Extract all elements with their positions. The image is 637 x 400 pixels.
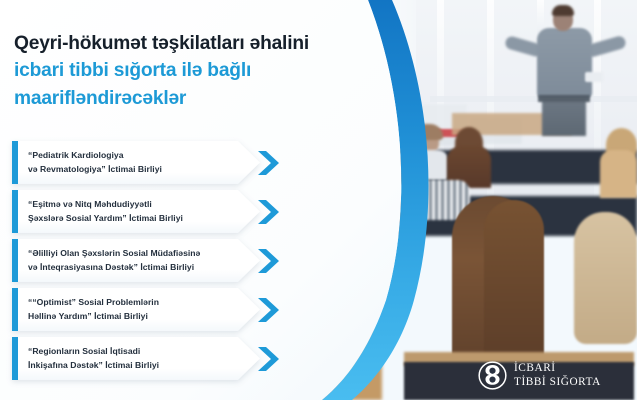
organization-name-line-1: “Eşitmə və Nitq Məhdudiyyətli bbox=[28, 198, 233, 211]
organization-name-line-1: ““Optimist” Sosial Problemlərin bbox=[28, 296, 233, 309]
card-accent-bar bbox=[12, 288, 18, 331]
organization-name-line-1: “Regionların Sosial İqtisadi bbox=[28, 345, 233, 358]
chevron-right-icon[interactable] bbox=[254, 344, 284, 374]
card-accent-bar bbox=[12, 337, 18, 380]
organization-list: “Pediatrik Kardiologiya və Revmatologiya… bbox=[0, 141, 300, 386]
list-item[interactable]: ““Optimist” Sosial Problemlərin Həllinə … bbox=[0, 288, 300, 331]
organization-name: ““Optimist” Sosial Problemlərin Həllinə … bbox=[28, 288, 233, 331]
list-item[interactable]: “Regionların Sosial İqtisadi İnkişafına … bbox=[0, 337, 300, 380]
list-item[interactable]: “Pediatrik Kardiologiya və Revmatologiya… bbox=[0, 141, 300, 184]
organization-card[interactable]: ““Optimist” Sosial Problemlərin Həllinə … bbox=[12, 288, 260, 331]
chevron-right-icon[interactable] bbox=[254, 246, 284, 276]
logo-text: İCBARİ TİBBİ SIĞORTA bbox=[514, 362, 601, 389]
page-title: Qeyri-hökumət təşkilatları əhalini icbar… bbox=[14, 30, 364, 112]
list-item[interactable]: “Əlilliyi Olan Şəxslərin Sosial Müdafiəs… bbox=[0, 239, 300, 282]
chevron-right-icon[interactable] bbox=[254, 148, 284, 178]
organization-card[interactable]: “Pediatrik Kardiologiya və Revmatologiya… bbox=[12, 141, 260, 184]
organization-card[interactable]: “Eşitmə və Nitq Məhdudiyyətli Şəxslərə S… bbox=[12, 190, 260, 233]
chevron-right-icon[interactable] bbox=[254, 295, 284, 325]
organization-name-line-2: Şəxslərə Sosial Yardım” İctimai Birliyi bbox=[28, 212, 233, 225]
organization-name-line-2: Həllinə Yardım” İctimai Birliyi bbox=[28, 310, 233, 323]
icbari-tibbi-sigorta-emblem-icon bbox=[478, 361, 507, 390]
card-accent-bar bbox=[12, 239, 18, 282]
headline-line-2: icbari tibbi sığorta ilə bağlı bbox=[14, 57, 364, 84]
headline-line-1: Qeyri-hökumət təşkilatları əhalini bbox=[14, 30, 364, 57]
chevron-right-icon[interactable] bbox=[254, 197, 284, 227]
organization-name: “Regionların Sosial İqtisadi İnkişafına … bbox=[28, 337, 233, 380]
list-item[interactable]: “Eşitmə və Nitq Məhdudiyyətli Şəxslərə S… bbox=[0, 190, 300, 233]
organization-name-line-1: “Pediatrik Kardiologiya bbox=[28, 149, 233, 162]
organization-card[interactable]: “Regionların Sosial İqtisadi İnkişafına … bbox=[12, 337, 260, 380]
organization-name-line-2: İnkişafına Dəstək” İctimai Birliyi bbox=[28, 359, 233, 372]
logo-text-line-2: TİBBİ SIĞORTA bbox=[514, 376, 601, 389]
card-accent-bar bbox=[12, 190, 18, 233]
card-accent-bar bbox=[12, 141, 18, 184]
headline-line-3: maarifləndirəcəklər bbox=[14, 85, 364, 112]
banner-image: Qeyri-hökumət təşkilatları əhalini icbar… bbox=[0, 0, 637, 400]
organization-name: “Əlilliyi Olan Şəxslərin Sosial Müdafiəs… bbox=[28, 239, 233, 282]
logo: İCBARİ TİBBİ SIĞORTA bbox=[478, 361, 601, 390]
organization-card[interactable]: “Əlilliyi Olan Şəxslərin Sosial Müdafiəs… bbox=[12, 239, 260, 282]
organization-name: “Eşitmə və Nitq Məhdudiyyətli Şəxslərə S… bbox=[28, 190, 233, 233]
organization-name-line-2: və İnteqrasiyasına Dəstək” İctimai Birli… bbox=[28, 261, 233, 274]
organization-name-line-2: və Revmatologiya” İctimai Birliyi bbox=[28, 163, 233, 176]
organization-name-line-1: “Əlilliyi Olan Şəxslərin Sosial Müdafiəs… bbox=[28, 247, 233, 260]
logo-text-line-1: İCBARİ bbox=[514, 362, 601, 375]
organization-name: “Pediatrik Kardiologiya və Revmatologiya… bbox=[28, 141, 233, 184]
